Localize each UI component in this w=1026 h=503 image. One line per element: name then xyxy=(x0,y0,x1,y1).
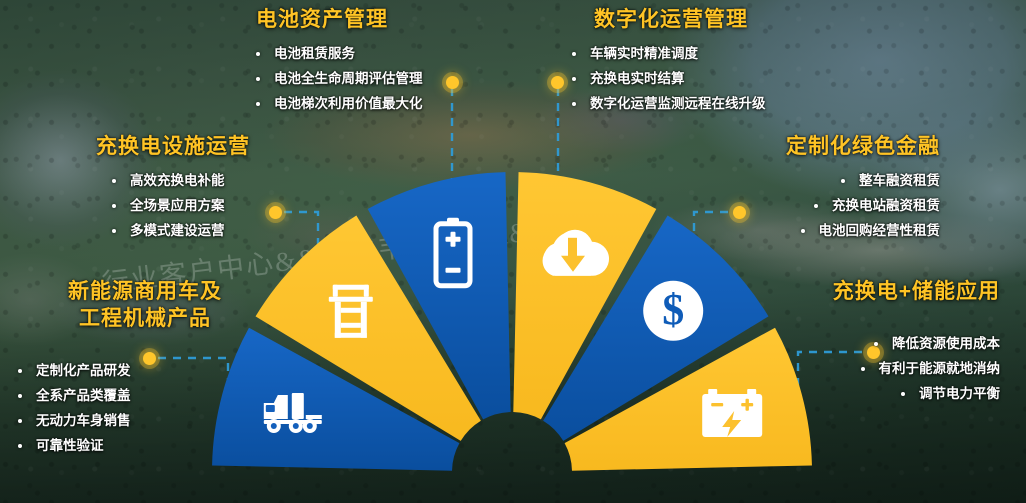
bullet-text: 电池全生命周期评估管理 xyxy=(274,66,423,91)
car-battery-icon xyxy=(702,389,762,437)
list-item: 充换电实时结算 xyxy=(572,66,766,91)
bullet-dot xyxy=(256,52,260,56)
bullet-text: 车辆实时精准调度 xyxy=(590,41,698,66)
bullet-dot xyxy=(874,342,878,346)
bullet-text: 有利于能源就地消纳 xyxy=(879,356,1001,381)
bullet-list: 车辆实时精准调度 充换电实时结算 数字化运营监测远程在线升级 xyxy=(572,41,766,116)
list-item: 定制化产品研发 xyxy=(18,358,250,383)
bullet-dot xyxy=(901,392,905,396)
bullet-dot xyxy=(814,204,818,208)
svg-text:$: $ xyxy=(662,285,684,334)
bullet-text: 电池梯次利用价值最大化 xyxy=(274,91,423,116)
node-battery-asset[interactable] xyxy=(446,76,459,89)
infographic-canvas: 行业客户中心&&刘鑫韦. local&&刘鑫 xyxy=(0,0,1026,503)
block-title-line1: 新能源商用车及 xyxy=(40,278,250,305)
bullet-text: 多模式建设运营 xyxy=(130,218,225,243)
bullet-dot xyxy=(18,369,22,373)
bullet-text: 调节电力平衡 xyxy=(919,381,1000,406)
block-digital-operations-management: 数字化运营管理 车辆实时精准调度 充换电实时结算 数字化运营监测远程在线升级 xyxy=(572,6,766,116)
block-title: 数字化运营管理 xyxy=(594,6,766,33)
bullet-text: 高效充换电补能 xyxy=(130,168,225,193)
list-item: 全场景应用方案 xyxy=(112,193,250,218)
bullet-list: 降低资源使用成本 有利于能源就地消纳 调节电力平衡 xyxy=(833,331,1000,406)
block-title-line2: 工程机械产品 xyxy=(40,305,250,332)
list-item: 充换电站融资租赁 xyxy=(786,193,940,218)
node-facility-operation[interactable] xyxy=(269,206,282,219)
block-title: 充换电设施运营 xyxy=(96,133,250,160)
block-battery-asset-management: 电池资产管理 电池租赁服务 电池全生命周期评估管理 电池梯次利用价值最大化 xyxy=(256,6,423,116)
node-digital-ops[interactable] xyxy=(551,76,564,89)
list-item: 车辆实时精准调度 xyxy=(572,41,766,66)
bullet-text: 定制化产品研发 xyxy=(36,358,131,383)
list-item: 电池租赁服务 xyxy=(256,41,423,66)
block-title: 充换电+储能应用 xyxy=(833,278,1000,305)
block-new-energy-commercial-vehicles: 新能源商用车及 工程机械产品 定制化产品研发 全系产品类覆盖 无动力车身销售 可… xyxy=(40,278,250,458)
list-item: 有利于能源就地消纳 xyxy=(833,356,1000,381)
block-charging-swapping-plus-storage: 充换电+储能应用 降低资源使用成本 有利于能源就地消纳 调节电力平衡 xyxy=(833,278,1000,406)
bullet-list: 电池租赁服务 电池全生命周期评估管理 电池梯次利用价值最大化 xyxy=(256,41,423,116)
bullet-dot xyxy=(841,179,845,183)
bullet-text: 降低资源使用成本 xyxy=(892,331,1000,356)
list-item: 调节电力平衡 xyxy=(833,381,1000,406)
bullet-dot xyxy=(861,367,865,371)
bullet-dot xyxy=(572,102,576,106)
bullet-text: 无动力车身销售 xyxy=(36,408,131,433)
bullet-text: 数字化运营监测远程在线升级 xyxy=(590,91,766,116)
list-item: 无动力车身销售 xyxy=(18,408,250,433)
bullet-dot xyxy=(801,229,805,233)
bullet-text: 充换电站融资租赁 xyxy=(832,193,940,218)
bullet-list: 高效充换电补能 全场景应用方案 多模式建设运营 xyxy=(112,168,250,243)
block-customized-green-finance: 定制化绿色金融 整车融资租赁 充换电站融资租赁 电池回购经营性租赁 xyxy=(786,133,940,243)
node-green-finance[interactable] xyxy=(733,206,746,219)
list-item: 全系产品类覆盖 xyxy=(18,383,250,408)
bullet-text: 充换电实时结算 xyxy=(590,66,685,91)
bullet-dot xyxy=(18,394,22,398)
bullet-list: 整车融资租赁 充换电站融资租赁 电池回购经营性租赁 xyxy=(786,168,940,243)
bullet-dot xyxy=(572,77,576,81)
bullet-text: 电池回购经营性租赁 xyxy=(819,218,941,243)
bullet-list: 定制化产品研发 全系产品类覆盖 无动力车身销售 可靠性验证 xyxy=(18,358,250,458)
bullet-dot xyxy=(112,179,116,183)
block-title: 电池资产管理 xyxy=(256,6,423,33)
list-item: 多模式建设运营 xyxy=(112,218,250,243)
list-item: 电池全生命周期评估管理 xyxy=(256,66,423,91)
list-item: 电池回购经营性租赁 xyxy=(786,218,940,243)
bullet-dot xyxy=(256,102,260,106)
bullet-dot xyxy=(256,77,260,81)
block-charging-swapping-facility-operation: 充换电设施运营 高效充换电补能 全场景应用方案 多模式建设运营 xyxy=(96,133,250,243)
list-item: 高效充换电补能 xyxy=(112,168,250,193)
bullet-text: 全系产品类覆盖 xyxy=(36,383,131,408)
bullet-text: 整车融资租赁 xyxy=(859,168,940,193)
bullet-dot xyxy=(112,229,116,233)
bullet-text: 可靠性验证 xyxy=(36,433,104,458)
list-item: 数字化运营监测远程在线升级 xyxy=(572,91,766,116)
list-item: 整车融资租赁 xyxy=(786,168,940,193)
block-title: 定制化绿色金融 xyxy=(786,133,940,160)
bullet-text: 电池租赁服务 xyxy=(274,41,355,66)
list-item: 电池梯次利用价值最大化 xyxy=(256,91,423,116)
bullet-dot xyxy=(572,52,576,56)
bullet-dot xyxy=(18,419,22,423)
dollar-circle-icon: $ xyxy=(643,281,703,341)
list-item: 可靠性验证 xyxy=(18,433,250,458)
bullet-text: 全场景应用方案 xyxy=(130,193,225,218)
list-item: 降低资源使用成本 xyxy=(833,331,1000,356)
bullet-dot xyxy=(18,444,22,448)
bullet-dot xyxy=(112,204,116,208)
